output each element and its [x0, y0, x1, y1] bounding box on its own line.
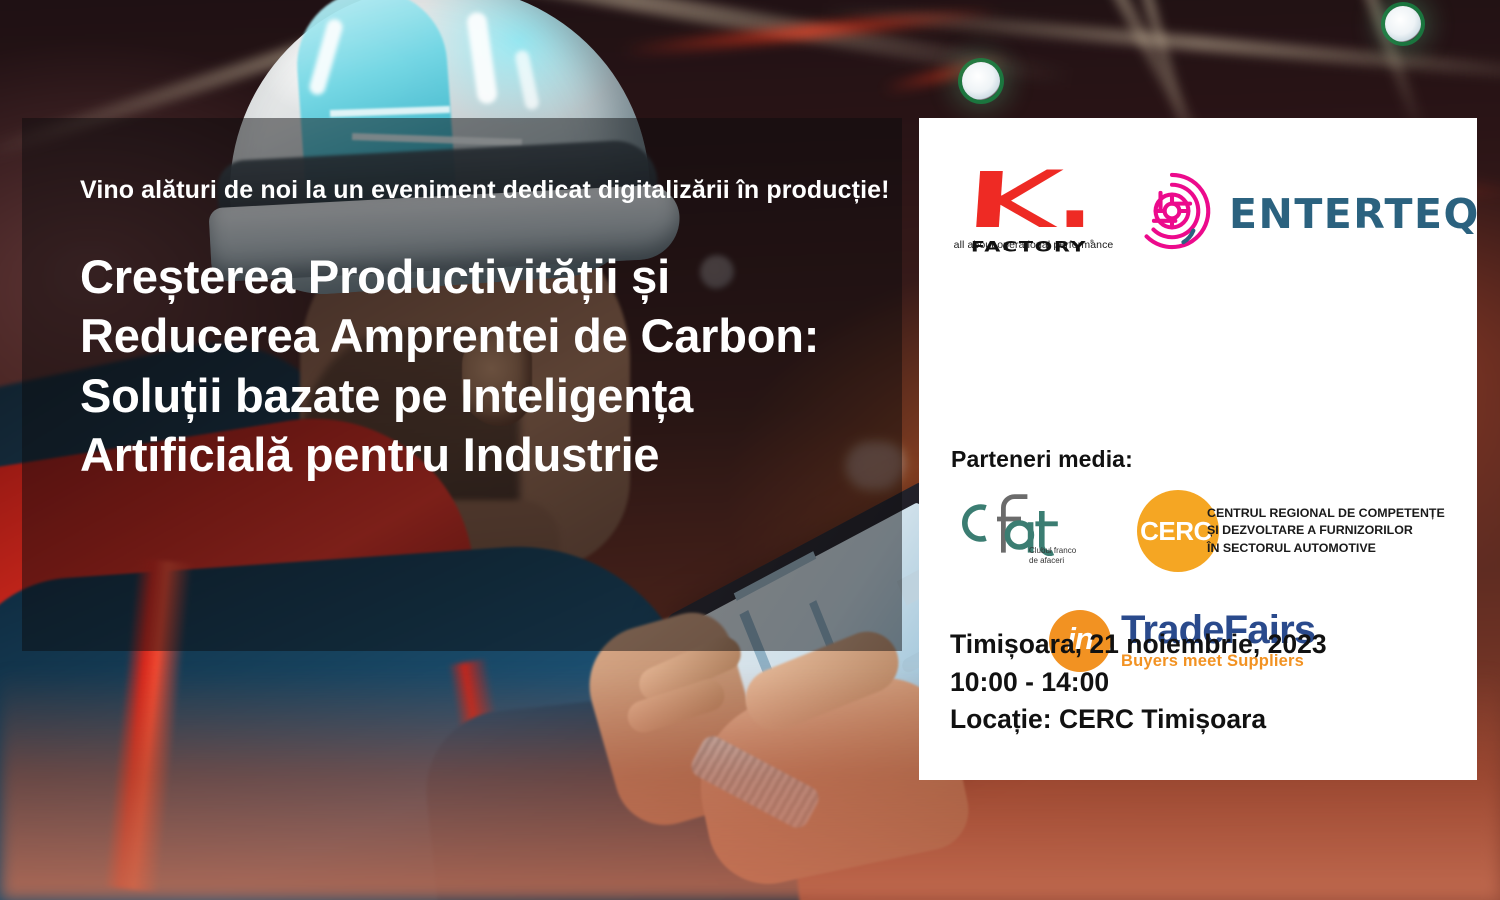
media-partner-cfat: Clubul franco de afaceri: [957, 490, 1077, 576]
event-venue: Locație: CERC Timișoara: [950, 701, 1327, 739]
media-partner-cerc: CERC CENTRUL REGIONAL DE COMPETENȚE ȘI D…: [1137, 490, 1445, 572]
ceiling-lamp: [1385, 6, 1421, 42]
cfat-subtitle: Clubul franco de afaceri: [1029, 546, 1076, 567]
svg-text:®: ®: [1089, 239, 1094, 246]
event-location-date: Timișoara, 21 noiembrie, 2023: [950, 626, 1327, 664]
svg-text:FACTORY: FACTORY: [970, 240, 1086, 256]
cerc-badge-label: CERC: [1140, 516, 1212, 547]
enterteq-wordmark: ENTERTEQ: [1229, 190, 1480, 238]
headline-overlay-panel: Vino alături de noi la un eveniment dedi…: [22, 118, 902, 651]
sponsor-kfactory: FACTORY ® all about operational performa…: [946, 168, 1121, 251]
event-time: 10:00 - 14:00: [950, 664, 1327, 702]
enterteq-maze-icon: [1131, 170, 1213, 257]
banner-kicker: Vino alături de noi la un eveniment dedi…: [80, 176, 862, 205]
event-banner: Vino alături de noi la un eveniment dedi…: [0, 0, 1500, 900]
sponsor-enterteq: ENTERTEQ: [1131, 170, 1480, 257]
banner-headline: Creșterea Productivității și Reducerea A…: [80, 247, 862, 485]
media-partners-label: Parteneri media:: [951, 446, 1133, 473]
info-card: FACTORY ® all about operational performa…: [919, 118, 1477, 780]
cerc-description: CENTRUL REGIONAL DE COMPETENȚE ȘI DEZVOL…: [1207, 505, 1445, 558]
kfactory-logo-icon: FACTORY ®: [969, 168, 1099, 230]
ceiling-lamp: [962, 62, 1000, 100]
event-details: Timișoara, 21 noiembrie, 2023 10:00 - 14…: [950, 626, 1327, 739]
